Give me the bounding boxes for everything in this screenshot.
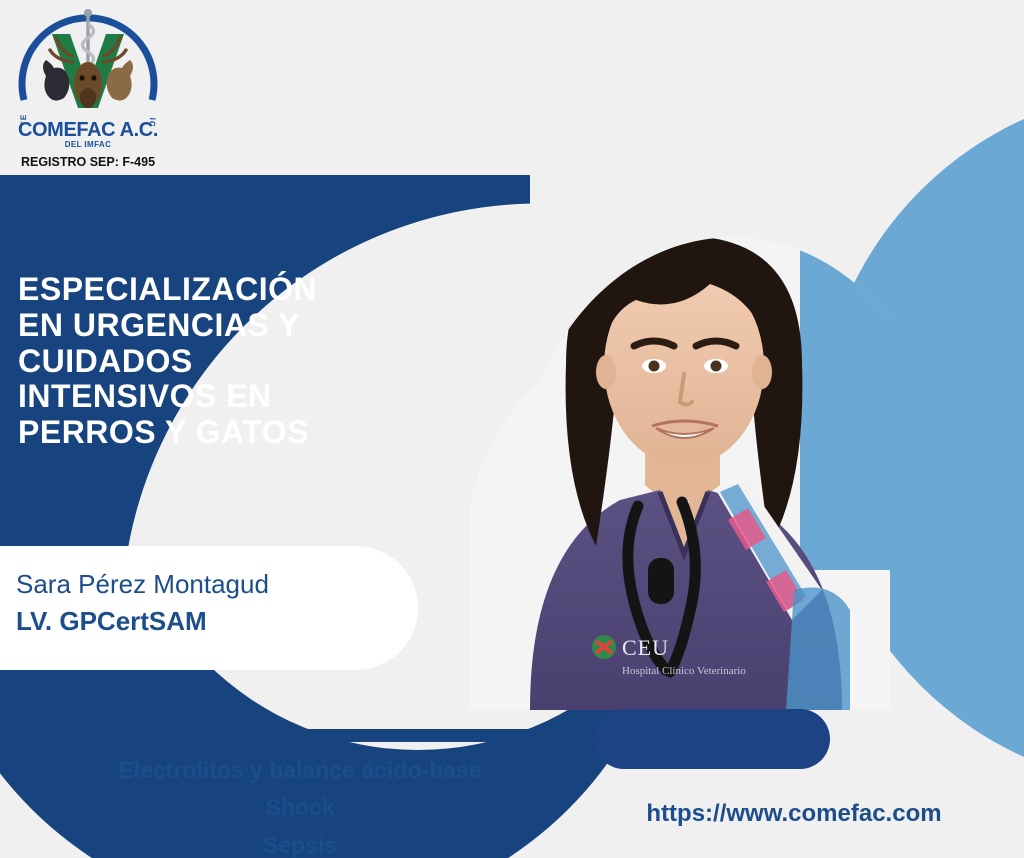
speaker-photo: CEU Hospital Clínico Veterinario — [470, 150, 890, 710]
topic-item: Electrolitos y balance ácido-base — [0, 752, 600, 789]
svg-text:CEU: CEU — [622, 635, 669, 660]
poster-canvas: CEU Hospital Clínico Veterinario ESPECIA… — [0, 0, 1024, 858]
comefac-logo: COLEGIO NACIONAL DE MEDICOS VETERINARIOS… — [8, 4, 168, 169]
topic-item: Sepsis — [0, 827, 600, 858]
page-title: ESPECIALIZACIÓN EN URGENCIAS Y CUIDADOS … — [18, 272, 438, 451]
svg-text:Hospital Clínico Veterinario: Hospital Clínico Veterinario — [622, 665, 746, 677]
speaker-photo-image: CEU Hospital Clínico Veterinario — [470, 150, 890, 710]
url-pill-decoration — [594, 709, 830, 769]
portrait-illustration: CEU Hospital Clínico Veterinario — [470, 150, 890, 710]
topics-list: Electrolitos y balance ácido-base Shock … — [0, 752, 600, 858]
speaker-card: Sara Pérez Montagud LV. GPCertSAM — [0, 546, 418, 670]
logo-emblem-icon: COLEGIO NACIONAL DE MEDICOS VETERINARIOS… — [8, 4, 168, 126]
speaker-name: Sara Pérez Montagud — [16, 566, 418, 603]
logo-subtitle: DEL IMFAC — [8, 141, 168, 149]
divider-rule — [0, 729, 618, 742]
speaker-credentials: LV. GPCertSAM — [16, 603, 418, 640]
website-url[interactable]: https://www.comefac.com — [594, 800, 994, 828]
logo-mark: COLEGIO NACIONAL DE MEDICOS VETERINARIOS… — [8, 4, 168, 126]
logo-registration: REGISTRO SEP: F-495 — [8, 156, 168, 169]
topic-item: Shock — [0, 789, 600, 826]
